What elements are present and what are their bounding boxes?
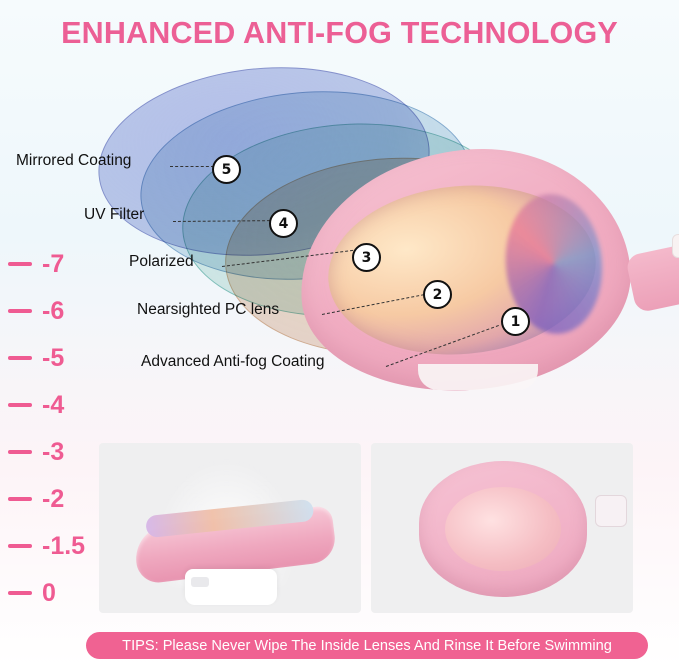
goggle-illustration: [300, 150, 678, 412]
diopter-row: 0: [0, 579, 96, 626]
diopter-row: -3: [0, 438, 96, 485]
diopter-value: -2: [42, 485, 64, 514]
diopter-value: -3: [42, 438, 64, 467]
leader-line-5: [170, 166, 214, 167]
anti-fog-steam-test-photo: [99, 443, 361, 613]
diopter-row: -2: [0, 485, 96, 532]
diopter-value: -5: [42, 344, 64, 373]
diopter-value: -4: [42, 391, 64, 420]
callout-label-mirrored-coating: Mirrored Coating: [16, 152, 131, 170]
diopter-dash-icon: [8, 544, 32, 548]
callout-marker-5: 5: [212, 155, 241, 184]
diopter-dash-icon: [8, 497, 32, 501]
page-title: ENHANCED ANTI-FOG TECHNOLOGY: [0, 16, 679, 51]
diopter-dash-icon: [8, 403, 32, 407]
diopter-dash-icon: [8, 591, 32, 595]
diopter-value: -7: [42, 250, 64, 279]
diopter-row: -1.5: [0, 532, 96, 579]
callout-marker-3: 3: [352, 243, 381, 272]
goggle-front-view-photo: [371, 443, 633, 613]
callout-label-nearsighted-pc-lens: Nearsighted PC lens: [137, 301, 279, 319]
callout-label-advanced-anti-fog-coating: Advanced Anti-fog Coating: [141, 353, 325, 371]
diopter-dash-icon: [8, 450, 32, 454]
diopter-value: 0: [42, 579, 56, 608]
product-infographic: ENHANCED ANTI-FOG TECHNOLOGY Mirrored Co…: [0, 0, 679, 667]
goggle-strap-clip: [595, 495, 627, 527]
diopter-row: -4: [0, 391, 96, 438]
diopter-dash-icon: [8, 356, 32, 360]
diopter-row: -5: [0, 344, 96, 391]
goggle-front-lens: [445, 487, 561, 571]
steam-generator: [185, 569, 277, 605]
diopter-row: -6: [0, 297, 96, 344]
tips-banner: TIPS: Please Never Wipe The Inside Lense…: [86, 632, 648, 659]
goggle-strap: [625, 237, 679, 314]
callout-label-polarized: Polarized: [129, 253, 194, 271]
diopter-dash-icon: [8, 309, 32, 313]
diopter-scale: -7 -6 -5 -4 -3 -2 -1.5 0: [0, 250, 96, 626]
callout-marker-1: 1: [501, 307, 530, 336]
goggle-buckle: [672, 234, 679, 258]
diopter-value: -1.5: [42, 532, 85, 561]
callout-label-uv-filter: UV Filter: [84, 206, 144, 224]
diopter-dash-icon: [8, 262, 32, 266]
diopter-value: -6: [42, 297, 64, 326]
goggle-nose-bridge: [418, 364, 538, 390]
callout-marker-4: 4: [269, 209, 298, 238]
diopter-row: -7: [0, 250, 96, 297]
callout-marker-2: 2: [423, 280, 452, 309]
goggle-front-body: [419, 461, 587, 597]
